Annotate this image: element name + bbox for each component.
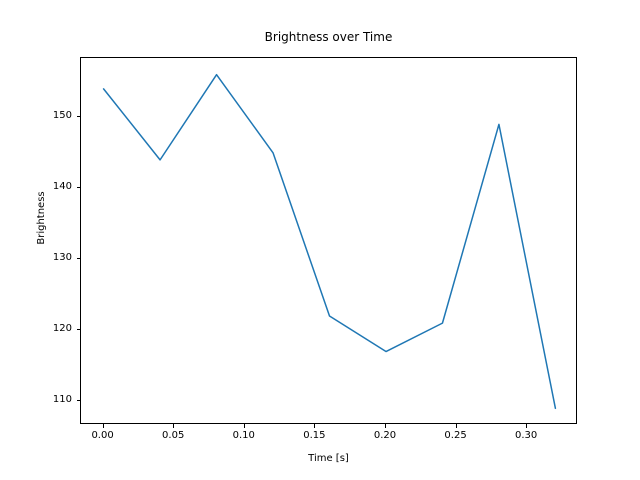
plot-area	[80, 57, 577, 424]
line-plot-svg	[81, 58, 578, 425]
x-tick-mark	[314, 424, 315, 428]
y-tick-label: 110	[32, 394, 72, 405]
y-tick-label: 120	[32, 323, 72, 334]
x-axis-label: Time [s]	[80, 453, 577, 465]
matplotlib-figure: Brightness over Time 110120130140150 0.0…	[0, 0, 640, 480]
x-tick-label: 0.25	[431, 430, 481, 441]
y-axis-label: Brightness	[36, 168, 48, 268]
x-tick-mark	[244, 424, 245, 428]
x-tick-mark	[103, 424, 104, 428]
y-tick-mark	[77, 400, 81, 401]
x-tick-mark	[526, 424, 527, 428]
x-tick-label: 0.10	[219, 430, 269, 441]
y-tick-label: 150	[32, 110, 72, 121]
x-tick-label: 0.15	[289, 430, 339, 441]
x-tick-label: 0.05	[148, 430, 198, 441]
chart-title: Brightness over Time	[80, 30, 577, 44]
x-tick-label: 0.30	[501, 430, 551, 441]
x-tick-mark	[173, 424, 174, 428]
y-tick-mark	[77, 187, 81, 188]
x-tick-label: 0.20	[360, 430, 410, 441]
y-tick-mark	[77, 116, 81, 117]
x-tick-label: 0.00	[78, 430, 128, 441]
x-tick-mark	[456, 424, 457, 428]
y-tick-mark	[77, 329, 81, 330]
x-tick-mark	[385, 424, 386, 428]
y-tick-mark	[77, 258, 81, 259]
brightness-line-series	[104, 75, 556, 409]
